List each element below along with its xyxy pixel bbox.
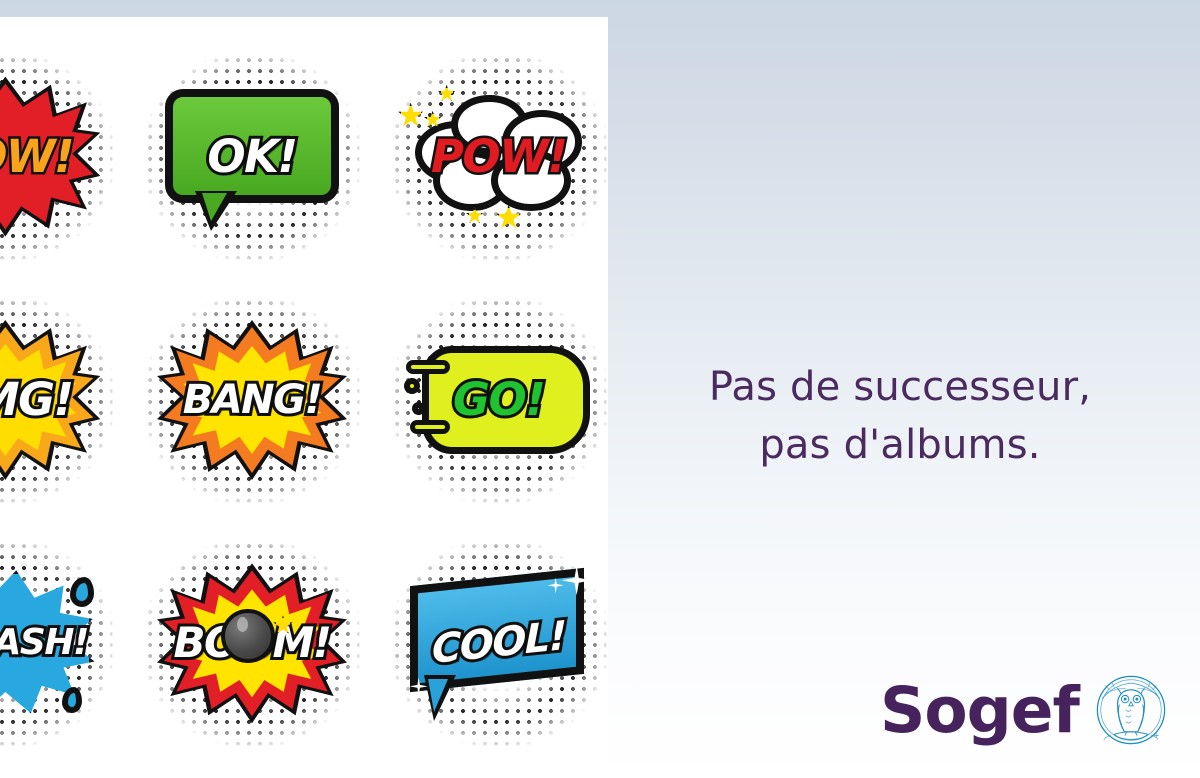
owl-in-circle-emblem (1089, 668, 1173, 752)
headline-line-2: pas d'albums. (620, 416, 1180, 474)
headline-line-1: Pas de successeur, (620, 358, 1180, 416)
comic-item-pow-cloud: POW! (375, 35, 608, 278)
burst-shape-orange-star: BANG! (157, 320, 347, 480)
splash-droplet (70, 577, 94, 607)
bubble-tail (424, 675, 456, 721)
comic-grid: POW! OK! (0, 35, 608, 765)
comic-item-cool: COOL! (375, 522, 608, 765)
burst-shape-splash: SPLASH! (0, 563, 100, 723)
bomb-icon (221, 609, 275, 663)
comic-item-ok-green: OK! (129, 35, 376, 278)
slide-canvas: POW! OK! (0, 0, 1200, 778)
comic-item-omg-yellow: OMG! (0, 278, 129, 521)
burst-shape-cloud: POW! (404, 77, 594, 237)
logo-wordmark: Sogef (880, 679, 1079, 742)
speed-line (410, 420, 450, 434)
comic-word: POW! (431, 134, 566, 179)
burst-shape-yellow-star: OMG! (0, 320, 100, 480)
burst-shape-red-star: POW! (0, 77, 100, 237)
sogef-logo: Sogef (880, 668, 1173, 752)
comic-word: GO! (453, 377, 544, 422)
comic-item-boom: BOOM! (129, 522, 376, 765)
comic-item-bang: BANG! (129, 278, 376, 521)
comic-word: BANG! (183, 380, 322, 420)
bubble-tail (195, 191, 237, 231)
headline-text: Pas de successeur, pas d'albums. (620, 358, 1180, 474)
speed-dot (412, 402, 425, 415)
speed-dot (404, 378, 420, 394)
comic-word: OK! (207, 134, 296, 179)
comic-item-splash: SPLASH! (0, 522, 129, 765)
speed-line (406, 360, 450, 374)
comic-image-panel: POW! OK! (0, 17, 608, 778)
comic-item-pow-red: POW! (0, 35, 129, 278)
comic-word: OMG! (0, 377, 73, 422)
burst-shape-boom-star: BOOM! (157, 563, 347, 723)
comic-item-go: GO! (375, 278, 608, 521)
burst-shape-cool-bubble: COOL! (404, 563, 594, 723)
comic-word: POW! (0, 134, 73, 179)
burst-shape-green-bubble: OK! (157, 77, 347, 237)
splash-droplet (62, 687, 82, 713)
burst-shape-speed: GO! (404, 320, 594, 480)
comic-word: SPLASH! (0, 625, 88, 661)
